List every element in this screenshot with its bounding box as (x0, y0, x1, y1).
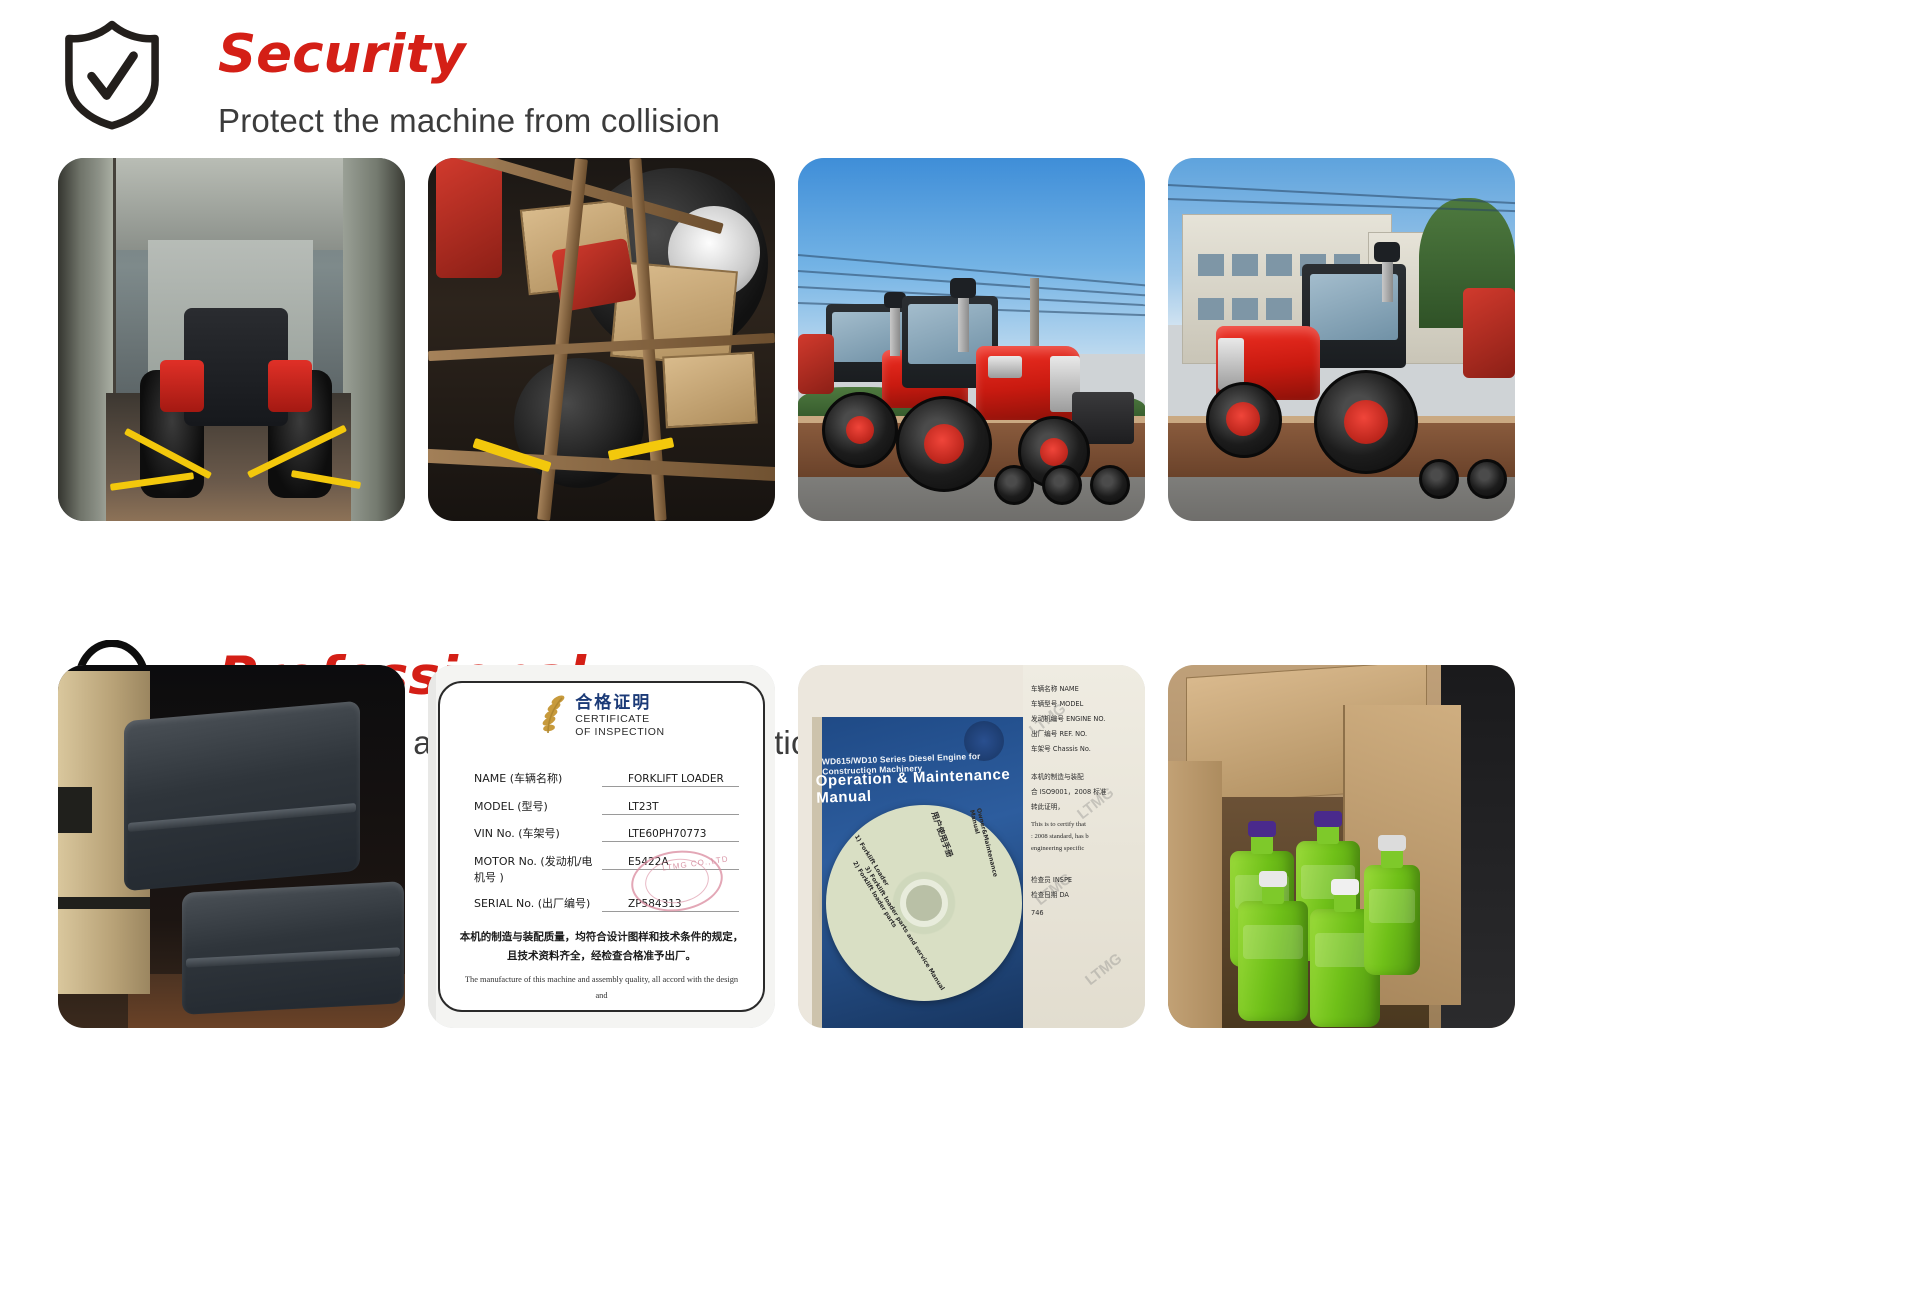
photo-bottles-in-carton[interactable] (1168, 665, 1515, 1028)
field-value: LT23T (602, 801, 739, 815)
paper-code: 746 (1031, 909, 1141, 917)
paper-inspector: 检查员 INSPE (1031, 874, 1141, 884)
paper-row-name: 车辆名称 NAME (1031, 683, 1141, 693)
certificate-title-en-2: OF INSPECTION (575, 726, 664, 739)
field-label: MODEL (型号) (474, 798, 602, 814)
paper-note-iso: 合 ISO9001，2008 标准 (1031, 786, 1141, 796)
certificate-body: 本机的制造与装配质量，均符合设计图样和技术条件的规定， 且技术资料齐全，经检查合… (440, 928, 763, 1012)
field-label: VIN No. (车架号) (474, 825, 602, 841)
certificate-title-zh: 合格证明 (575, 695, 664, 713)
certificate-body-zh-2: 且技术资料齐全，经检查合格准予出厂。 (458, 947, 745, 965)
paper-watermark: LTMG (1082, 950, 1125, 989)
certificate-field-model: MODEL (型号) LT23T (474, 798, 763, 815)
section-header-security: Security Protect the machine from collis… (58, 18, 720, 150)
certificate-body-en-2: technology, and with completely technica… (458, 1010, 745, 1012)
paper-date: 检查日期 DA (1031, 889, 1141, 899)
paper-en-1: This is to certify that (1031, 821, 1141, 828)
photo-crated-spare-parts[interactable] (428, 158, 775, 521)
paper-row-model: 车辆型号 MODEL (1031, 698, 1141, 708)
bottle (1238, 901, 1308, 1021)
certificate-title-en-1: CERTIFICATE (575, 713, 664, 726)
manual-cd-disc: 用户使用手册 Owner&Maintenance Manual 1) Forkl… (826, 805, 1022, 1001)
photo-row-professional: 合格证明 CERTIFICATE OF INSPECTION NAME (车辆名… (58, 665, 1515, 1028)
paper-row-engine: 发动机编号 ENGINE NO. (1031, 713, 1141, 723)
section-subtitle: Protect the machine from collision (218, 103, 720, 139)
paper-row-ref: 出厂编号 REF. NO. (1031, 728, 1141, 738)
bottle (1364, 865, 1420, 975)
field-label: MOTOR No. (发动机/电机号 ) (474, 853, 602, 885)
certificate-body-en-1: The manufacture of this machine and asse… (458, 972, 745, 1003)
field-label: NAME (车辆名称) (474, 770, 602, 786)
photo-tractor-in-container[interactable] (58, 158, 405, 521)
paper-note-header: 本机的制造与装配 (1031, 771, 1141, 781)
section-title: Security (218, 28, 720, 81)
certificate-body-zh-1: 本机的制造与装配质量，均符合设计图样和技术条件的规定， (458, 928, 745, 946)
certificate-field-vin: VIN No. (车架号) LTE60PH70773 (474, 825, 763, 842)
photo-toolboxes-on-pallet[interactable] (58, 665, 405, 1028)
photo-tractors-on-truck[interactable] (798, 158, 1145, 521)
wreath-icon (538, 695, 568, 737)
marketing-detail-page: Security Protect the machine from collis… (0, 0, 1920, 1300)
photo-tractor-at-factory[interactable] (1168, 158, 1515, 521)
photo-certificate-of-inspection[interactable]: 合格证明 CERTIFICATE OF INSPECTION NAME (车辆名… (428, 665, 775, 1028)
manual-certificate-paper: 车辆名称 NAME 车辆型号 MODEL 发动机编号 ENGINE NO. 出厂… (1023, 665, 1145, 1028)
photo-row-security (58, 158, 1515, 521)
paper-en-3: engineering specific (1031, 845, 1141, 852)
cd-label-zh: 用户使用手册 (929, 810, 956, 859)
field-value: FORKLIFT LOADER (602, 773, 739, 787)
field-label: SERIAL No. (出厂编号) (474, 895, 602, 911)
photo-manual-and-cd[interactable]: WD615/WD10 Series Diesel Engine for Cons… (798, 665, 1145, 1028)
paper-en-2: : 2008 standard, has b (1031, 833, 1141, 840)
field-value: LTE60PH70773 (602, 828, 739, 842)
certificate-header: 合格证明 CERTIFICATE OF INSPECTION (440, 683, 763, 738)
shield-check-icon (58, 18, 198, 150)
paper-note-transfer: 转此证明， (1031, 801, 1141, 811)
certificate-field-serial: SERIAL No. (出厂编号) ZP584313 (474, 895, 763, 912)
paper-row-chassis: 车架号 Chassis No. (1031, 743, 1141, 753)
certificate-field-name: NAME (车辆名称) FORKLIFT LOADER (474, 770, 763, 787)
